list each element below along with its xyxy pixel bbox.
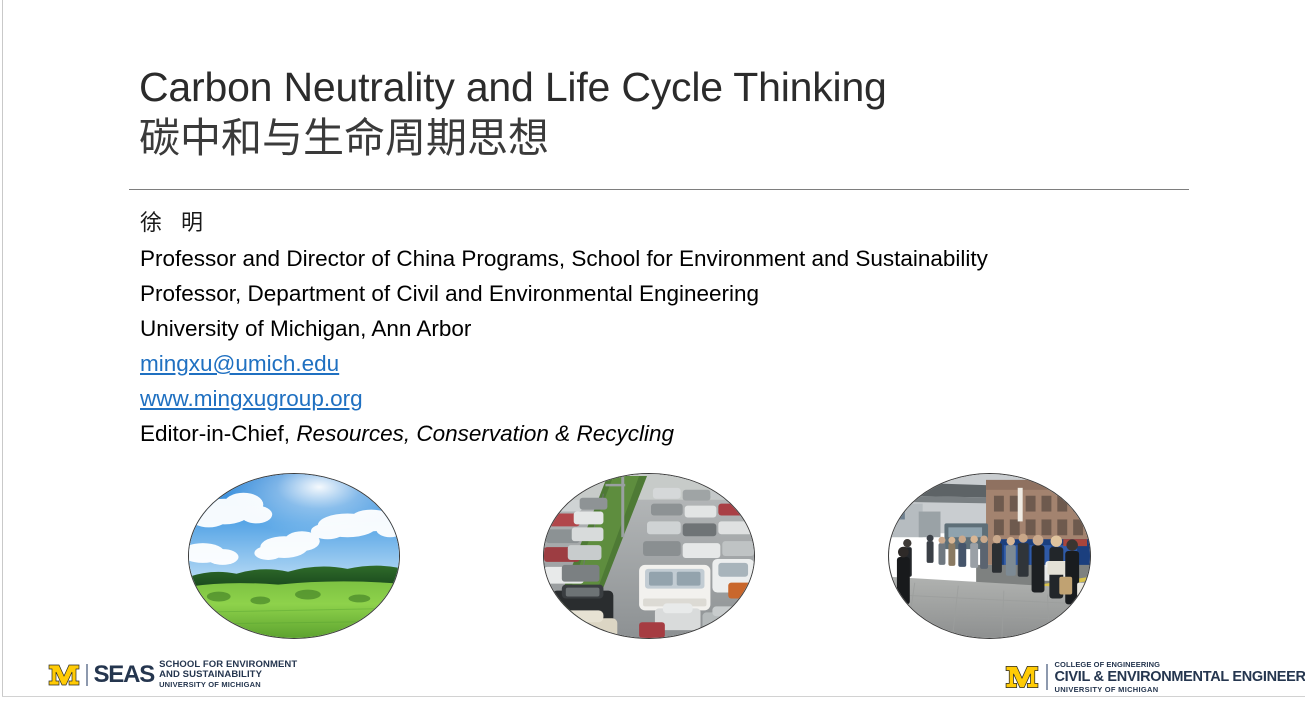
michigan-block-m-icon [1005,664,1039,690]
website-link[interactable]: www.mingxugroup.org [140,386,363,411]
author-name-chinese: 徐 明 [140,206,1140,241]
affiliation-line-3: University of Michigan, Ann Arbor [140,311,1140,346]
slide-title-chinese: 碳中和与生命周期思想 [139,113,1189,164]
green-meadow-blue-sky-photo [188,473,400,639]
email-link[interactable]: mingxu@umich.edu [140,351,339,376]
civil-environmental-engineering-logo: COLLEGE OF ENGINEERING CIVIL & ENVIRONME… [1005,660,1305,694]
affiliation-line-2: Professor, Department of Civil and Envir… [140,276,1140,311]
logo-divider-rule [1046,664,1048,690]
traffic-jam-illustration [544,474,754,638]
journal-title: Resources, Conservation & Recycling [296,421,674,446]
cee-logo-text: COLLEGE OF ENGINEERING CIVIL & ENVIRONME… [1055,660,1305,694]
slide-bottom-border [2,696,1305,697]
cee-line-3: UNIVERSITY OF MICHIGAN [1055,685,1305,694]
title-divider-line [129,189,1189,190]
meadow-illustration [189,474,399,638]
affiliation-line-1: Professor and Director of China Programs… [140,241,1140,276]
title-block: Carbon Neutrality and Life Cycle Thinkin… [139,62,1189,164]
michigan-block-m-icon [48,663,80,687]
seas-line-2: AND SUSTAINABILITY [159,670,297,680]
traffic-congestion-photo [543,473,755,639]
seas-line-3: UNIVERSITY OF MICHIGAN [159,680,297,690]
seas-wordmark: SEAS [94,663,155,687]
seas-logo: SEAS SCHOOL FOR ENVIRONMENT AND SUSTAINA… [48,660,297,690]
email-line: mingxu@umich.edu [140,346,1140,381]
cee-line-1: COLLEGE OF ENGINEERING [1055,660,1305,669]
cee-line-2: CIVIL & ENVIRONMENTAL ENGINEERING [1055,669,1305,685]
seas-logo-text: SCHOOL FOR ENVIRONMENT AND SUSTAINABILIT… [159,660,297,690]
website-line: www.mingxugroup.org [140,381,1140,416]
sidewalk-queue-illustration [889,474,1090,638]
author-affiliation-block: 徐 明 Professor and Director of China Prog… [140,206,1140,451]
slide-left-border [2,0,3,697]
editor-role-prefix: Editor-in-Chief, [140,421,296,446]
slide-title-english: Carbon Neutrality and Life Cycle Thinkin… [139,62,1189,112]
people-queue-sidewalk-photo [888,473,1091,639]
editor-role-line: Editor-in-Chief, Resources, Conservation… [140,416,1140,451]
slide-canvas: Carbon Neutrality and Life Cycle Thinkin… [0,0,1305,707]
logo-divider-rule [86,664,88,686]
